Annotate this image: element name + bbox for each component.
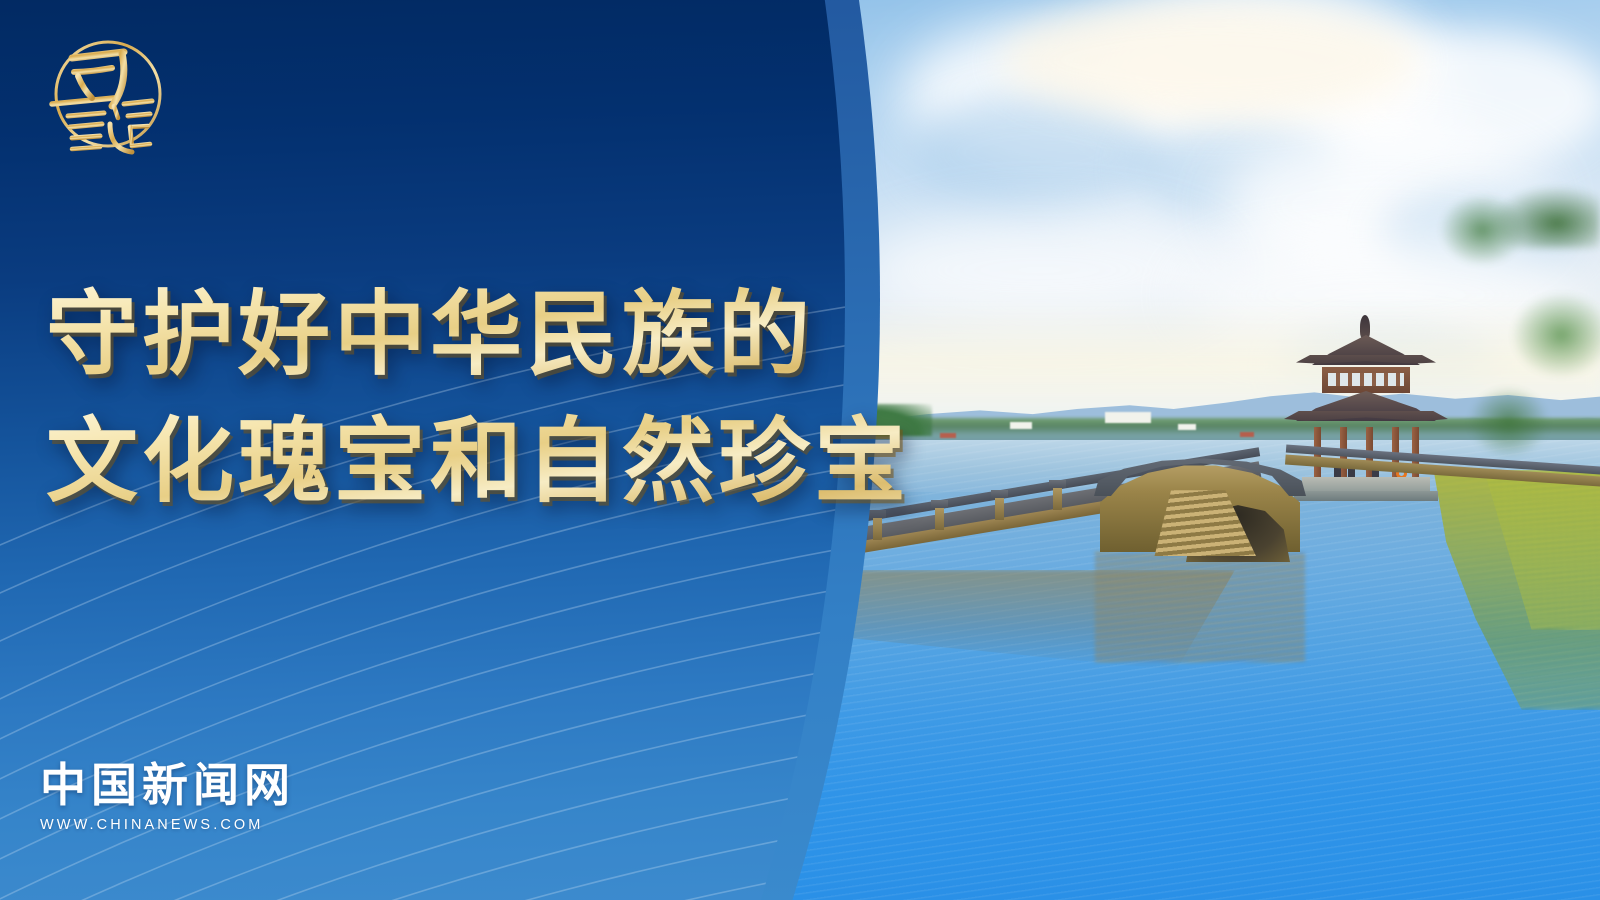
title-line-2: 文化瑰宝和自然珍宝 [46, 401, 910, 522]
railing-cap [1049, 480, 1066, 488]
railing-post [995, 496, 1004, 520]
title-line-1: 守护好中华民族的 [46, 274, 910, 395]
railing-post [1053, 486, 1062, 510]
roof-finial [1360, 315, 1370, 339]
cloud [1000, 0, 1420, 120]
railing-cap [991, 490, 1008, 498]
poster-root: 守护好中华民族的 文化瑰宝和自然珍宝 中国新闻网 WWW.CHINANEWS.C… [0, 0, 1600, 900]
dark-foliage [1492, 186, 1600, 248]
far-building [1105, 412, 1151, 423]
far-red-roof [1240, 432, 1254, 437]
far-building [1178, 424, 1196, 430]
far-building [1010, 422, 1032, 429]
chinanews-logo[interactable]: 中国新闻网 WWW.CHINANEWS.COM [40, 762, 295, 833]
chinanews-name: 中国新闻网 [40, 762, 295, 808]
bridge-arch [1100, 460, 1300, 570]
chinanews-url: WWW.CHINANEWS.COM [40, 817, 295, 833]
far-red-roof [940, 433, 956, 438]
railing-post [935, 506, 944, 530]
xi-yan-dao-seal [38, 28, 174, 164]
pavilion-windows [1328, 373, 1404, 386]
railing-cap [931, 500, 948, 508]
poster-title: 守护好中华民族的 文化瑰宝和自然珍宝 [46, 274, 910, 523]
